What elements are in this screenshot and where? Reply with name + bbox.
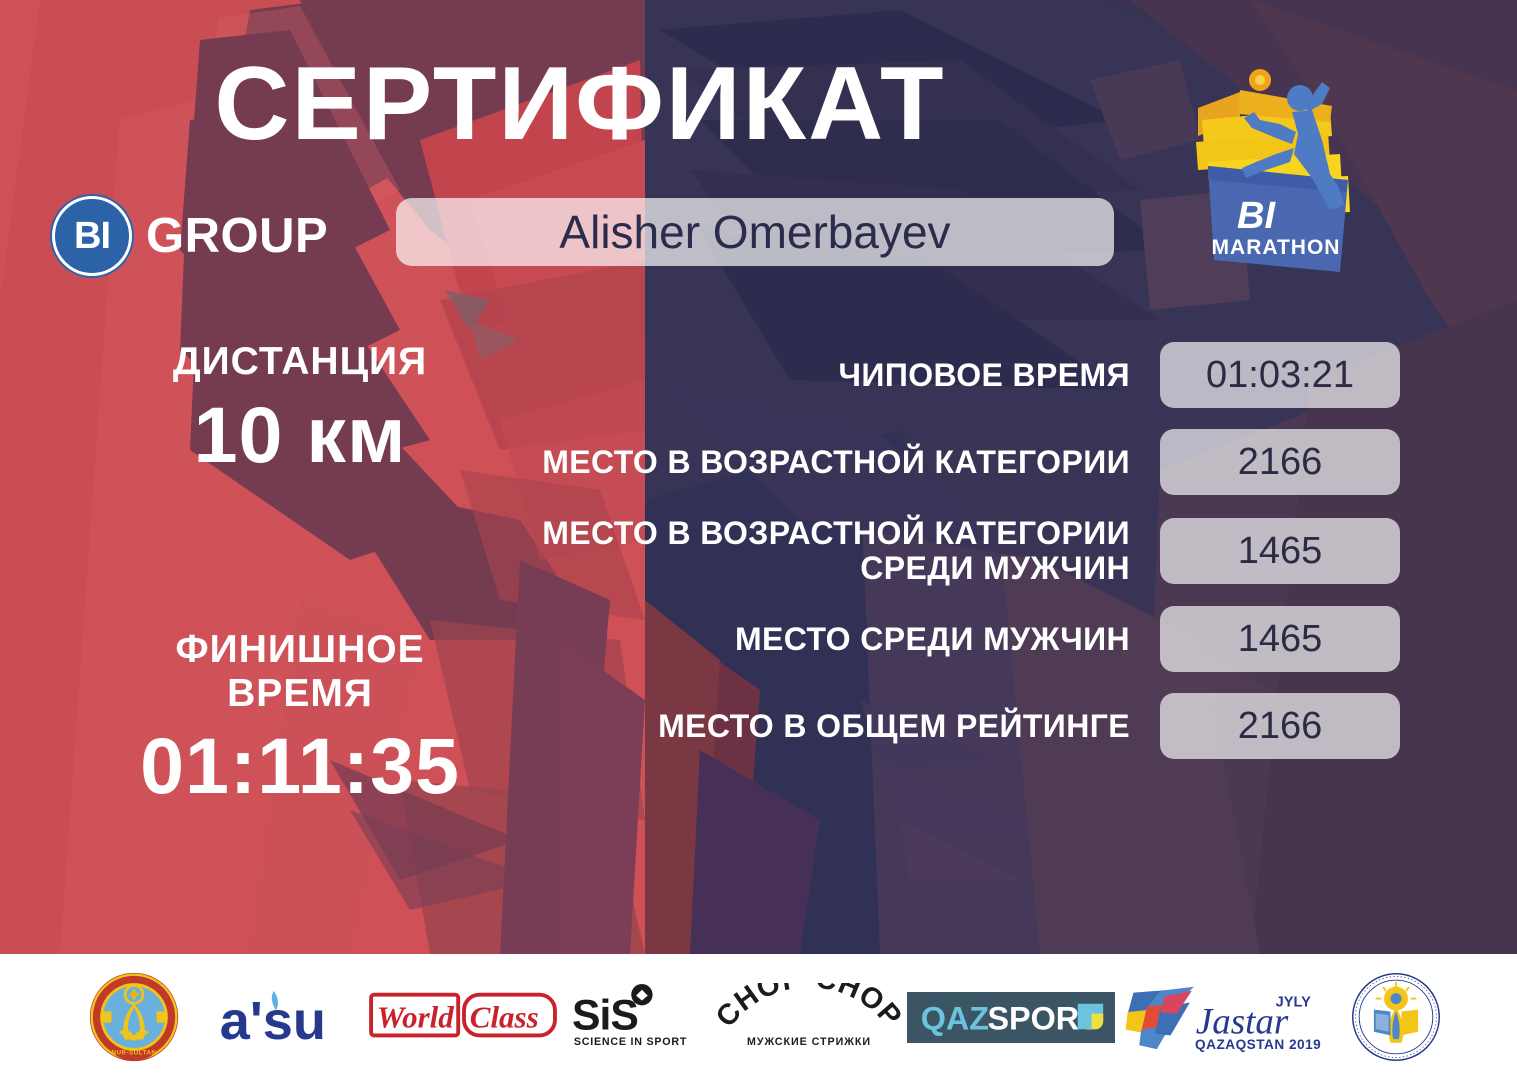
asu-logo-icon: a'su [214, 983, 359, 1051]
finish-time-value: 01:11:35 [60, 725, 540, 807]
qazsport-logo-icon: QAZ SPORT [907, 992, 1115, 1043]
participant-name-pill: Alisher Omerbayev [396, 198, 1114, 266]
chop-chop-text1: CHOP-CHOP [716, 983, 902, 1033]
stat-row: ЧИПОВОЕ ВРЕМЯ 01:03:21 [520, 342, 1400, 408]
finish-time-block: ФИНИШНОЕ ВРЕМЯ 01:11:35 [60, 628, 540, 808]
sponsor-chop-chop-logo: CHOP-CHOP МУЖСКИЕ СТРИЖКИ [714, 967, 904, 1067]
sponsor-jastar-jyly-logo: Jastar JYLY QAZAQSTAN 2019 [1119, 967, 1334, 1067]
marathon-logo-line1: BI [1237, 195, 1276, 237]
chop-chop-text2: МУЖСКИЕ СТРИЖКИ [746, 1036, 870, 1048]
stat-label: МЕСТО В ВОЗРАСТНОЙ КАТЕГОРИИ [520, 445, 1130, 480]
stat-row: МЕСТО В ВОЗРАСТНОЙ КАТЕГОРИИ СРЕДИ МУЖЧИ… [520, 516, 1400, 585]
stat-label: МЕСТО В ВОЗРАСТНОЙ КАТЕГОРИИ СРЕДИ МУЖЧИ… [520, 516, 1130, 585]
stat-label: ЧИПОВОЕ ВРЕМЯ [520, 358, 1130, 393]
left-stats-column: ДИСТАНЦИЯ 10 км ФИНИШНОЕ ВРЕМЯ 01:11:35 [60, 340, 540, 807]
stat-value: 1465 [1238, 620, 1323, 658]
distance-block: ДИСТАНЦИЯ 10 км [60, 340, 540, 476]
stat-value-box: 2166 [1160, 429, 1400, 495]
asu-logo-text: a'su [219, 991, 325, 1051]
stat-label: МЕСТО СРЕДИ МУЖЧИН [520, 622, 1130, 657]
world-class-text2: Class [469, 1000, 538, 1035]
sponsor-bar: NUR-SULTAN a'su World Class SiS [0, 954, 1517, 1080]
marathon-logo-line2: MARATHON [1212, 236, 1341, 259]
stat-value-box: 1465 [1160, 606, 1400, 672]
nur-sultan-emblem-text: NUR-SULTAN [111, 1050, 156, 1057]
bi-marathon-logo: BI MARATHON [1180, 62, 1370, 292]
sponsor-nur-sultan-emblem: NUR-SULTAN [59, 967, 209, 1067]
bi-marathon-graphic: BI MARATHON [1180, 62, 1370, 292]
sponsor-asu-logo: a'su [209, 967, 364, 1067]
world-class-logo-icon: World Class [366, 987, 562, 1047]
bi-group-word: GROUP [146, 212, 328, 261]
stat-row: МЕСТО В ВОЗРАСТНОЙ КАТЕГОРИИ 2166 [520, 429, 1400, 495]
sponsor-sis-logo: SiS SCIENCE IN SPORT [564, 967, 714, 1067]
stat-value: 01:03:21 [1206, 356, 1354, 394]
distance-value: 10 км [60, 394, 540, 476]
sis-logo-text1: SiS [571, 992, 637, 1040]
finish-time-label-line1: ФИНИШНОЕ [60, 628, 540, 672]
sis-logo-text2: SCIENCE IN SPORT [573, 1036, 686, 1048]
chop-chop-logo-icon: CHOP-CHOP МУЖСКИЕ СТРИЖКИ [716, 983, 902, 1051]
certificate-canvas: СЕРТИФИКАТ BI GROUP Alisher Omerbayev [0, 0, 1517, 1080]
stat-value: 1465 [1238, 532, 1323, 570]
stat-row: МЕСТО В ОБЩЕМ РЕЙТИНГЕ 2166 [520, 693, 1400, 759]
bi-badge-label: BI [74, 217, 110, 255]
ministry-emblem-icon [1350, 971, 1442, 1063]
world-class-text1: World [376, 1000, 453, 1035]
right-stats-column: ЧИПОВОЕ ВРЕМЯ 01:03:21 МЕСТО В ВОЗРАСТНО… [520, 342, 1400, 780]
jastar-text2: JYLY [1276, 994, 1311, 1010]
stat-value-box: 01:03:21 [1160, 342, 1400, 408]
finish-time-label-line2: ВРЕМЯ [60, 672, 540, 716]
jastar-jyly-logo-icon: Jastar JYLY QAZAQSTAN 2019 [1121, 979, 1331, 1055]
nur-sultan-emblem-icon: NUR-SULTAN [87, 970, 181, 1064]
sponsor-qazsport-logo: QAZ SPORT [904, 967, 1119, 1067]
bi-group-logo: BI GROUP [52, 196, 328, 276]
stat-value-box: 1465 [1160, 518, 1400, 584]
stat-value-box: 2166 [1160, 693, 1400, 759]
stat-label: МЕСТО В ОБЩЕМ РЕЙТИНГЕ [520, 709, 1130, 744]
sponsor-ministry-emblem [1334, 967, 1459, 1067]
distance-label: ДИСТАНЦИЯ [60, 340, 540, 384]
participant-name: Alisher Omerbayev [559, 209, 950, 255]
sis-logo-icon: SiS SCIENCE IN SPORT [566, 983, 712, 1051]
sponsor-world-class-logo: World Class [364, 967, 564, 1067]
stat-value: 2166 [1238, 707, 1323, 745]
bi-badge-icon: BI [52, 196, 132, 276]
stat-row: МЕСТО СРЕДИ МУЖЧИН 1465 [520, 606, 1400, 672]
jastar-text3: QAZAQSTAN 2019 [1195, 1037, 1321, 1052]
page-title: СЕРТИФИКАТ [0, 52, 1160, 156]
qazsport-text1: QAZ [921, 1000, 989, 1036]
stat-value: 2166 [1238, 443, 1323, 481]
